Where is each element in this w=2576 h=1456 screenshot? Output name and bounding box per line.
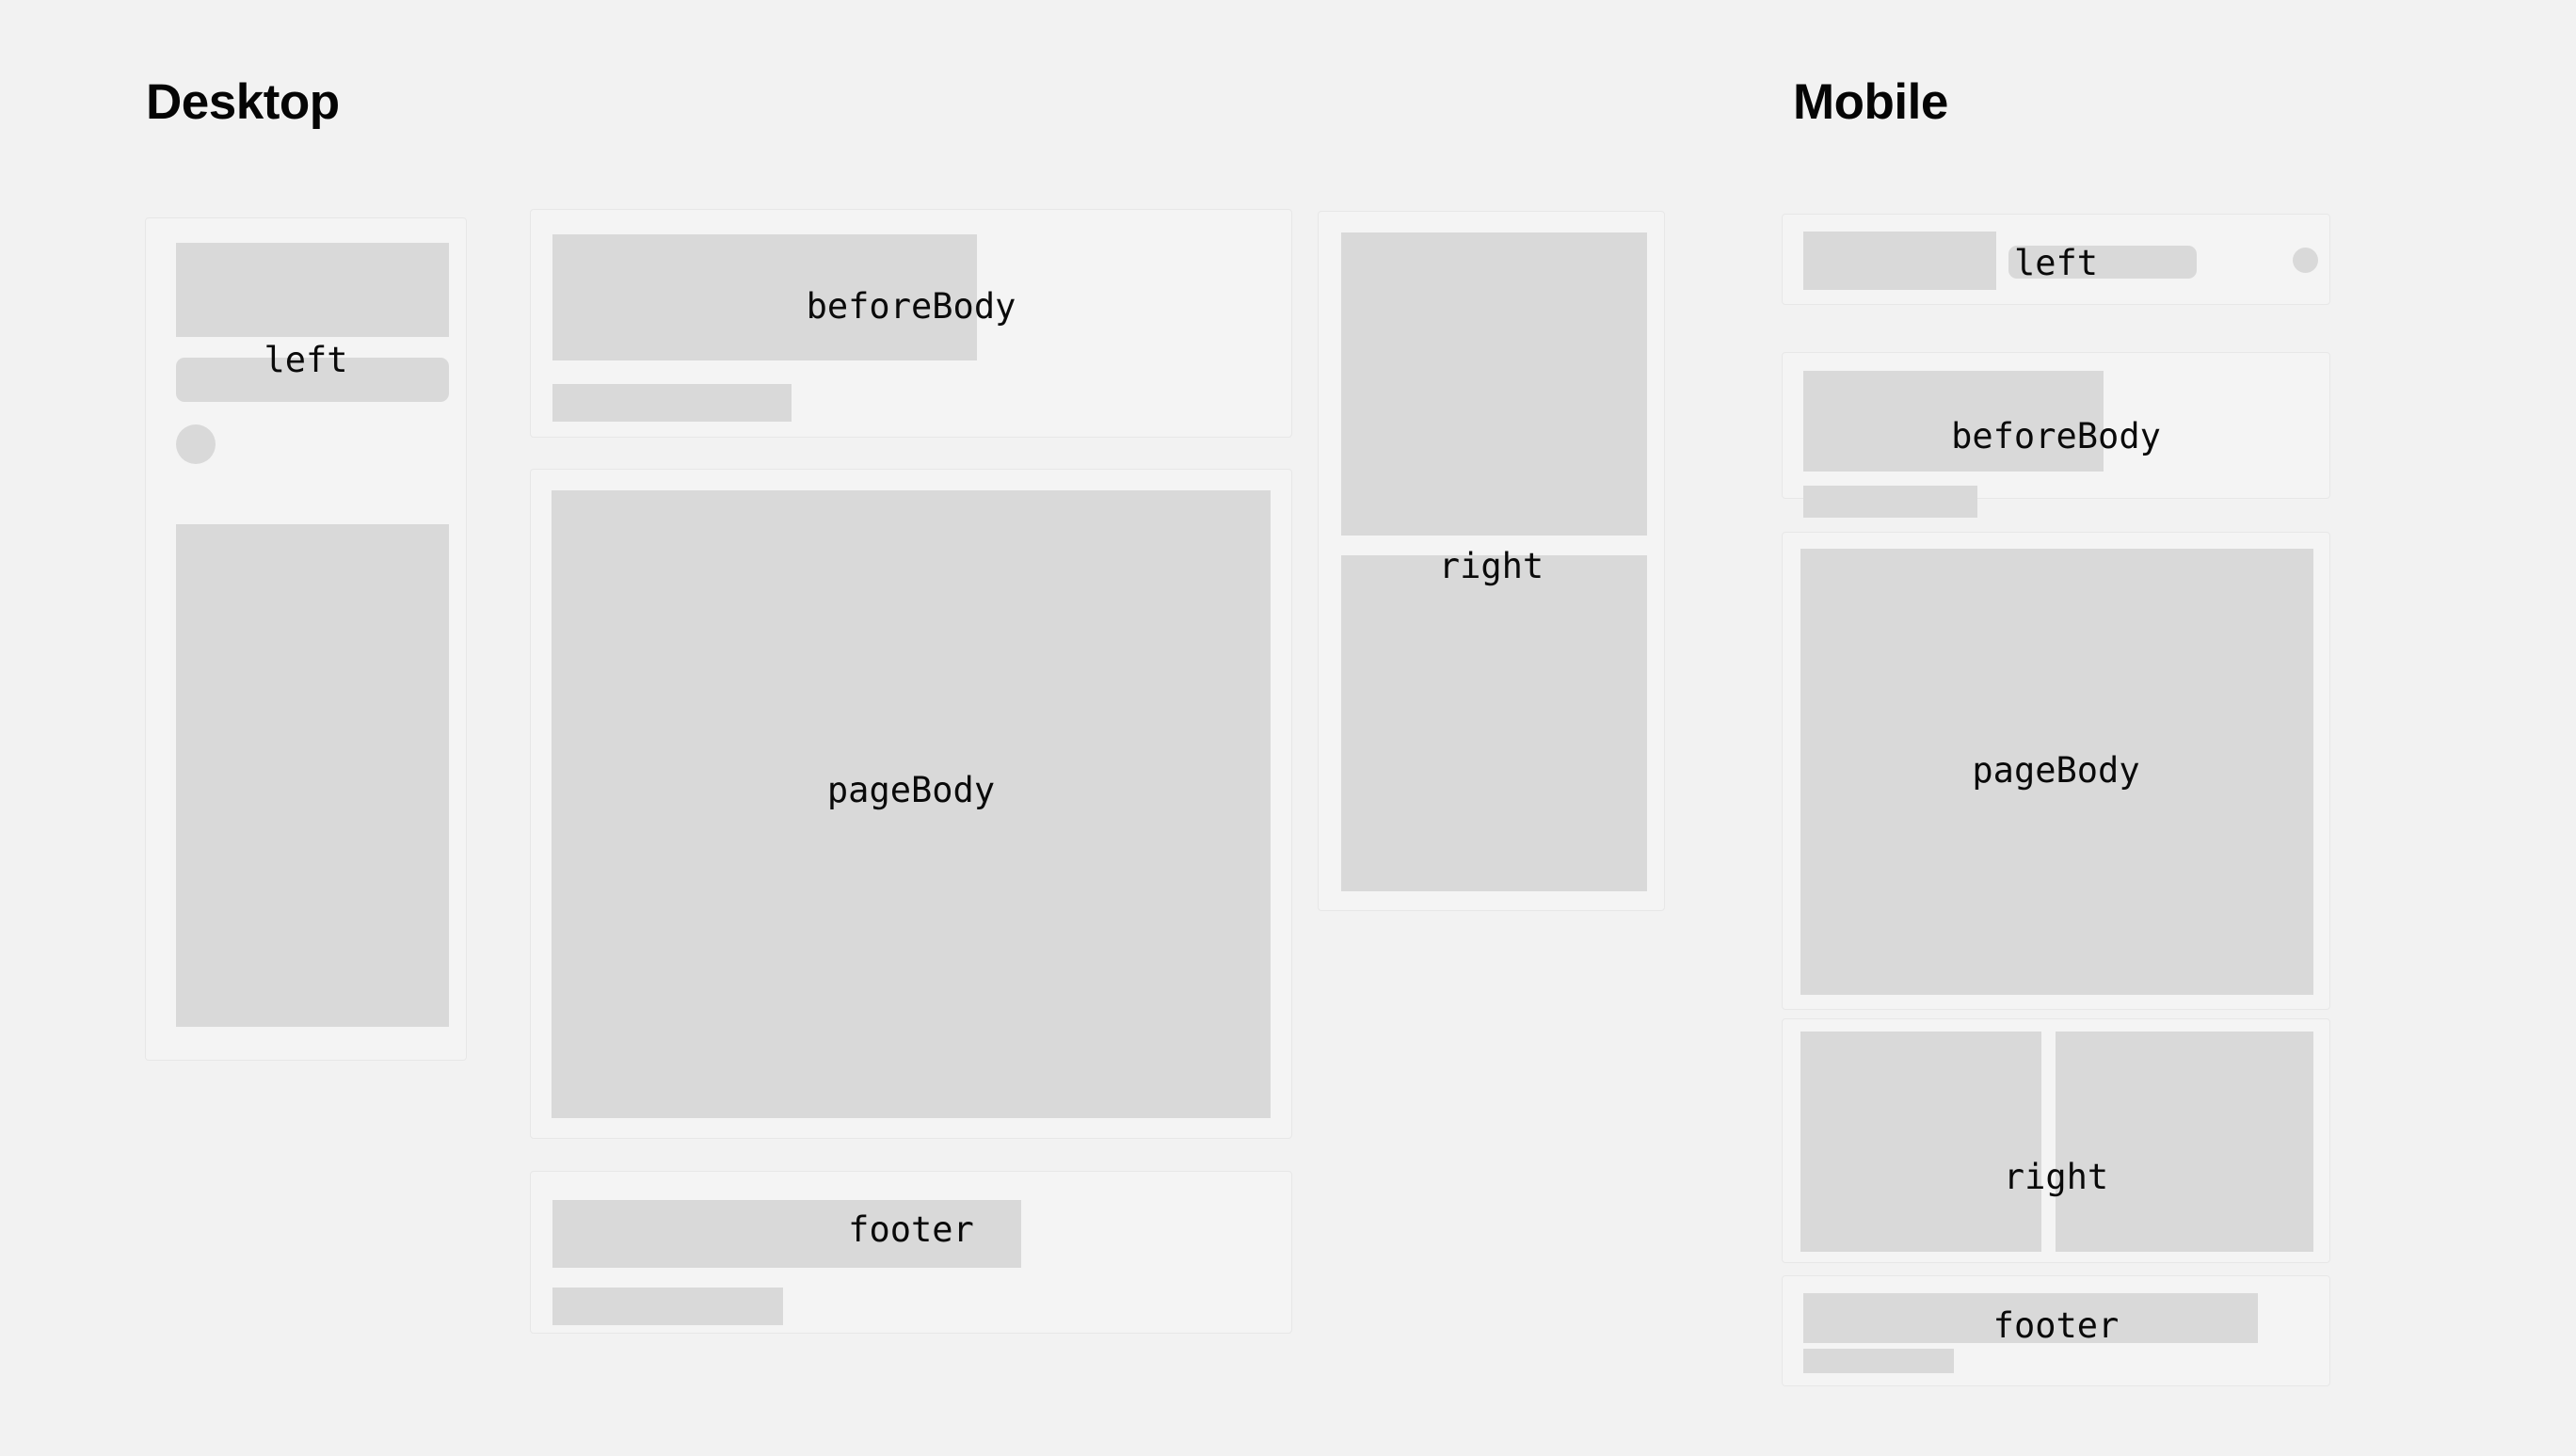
desktop-pagebody-slot-card[interactable] (530, 469, 1292, 1139)
mobile-pagebody-slot-card[interactable] (1782, 532, 2330, 1010)
desktop-right-upper-block (1341, 232, 1647, 536)
desktop-beforebody-slot-card[interactable] (530, 209, 1292, 438)
mobile-beforebody-primary-block (1803, 371, 2104, 472)
mobile-footer-secondary-block (1803, 1349, 1954, 1373)
mobile-footer-slot-card[interactable] (1782, 1275, 2330, 1386)
desktop-footer-primary-block (552, 1200, 1021, 1268)
mobile-left-header-block (1803, 232, 1996, 290)
mobile-right-slot-card[interactable] (1782, 1018, 2330, 1263)
mobile-left-avatar-dot (2293, 248, 2318, 273)
desktop-pagebody-body-block (552, 490, 1271, 1118)
mobile-left-subheader-pill (2008, 246, 2197, 279)
layout-preview-stage: Desktop Mobile (0, 0, 2576, 1456)
desktop-beforebody-secondary-block (552, 384, 792, 422)
desktop-left-header-block (176, 243, 449, 337)
desktop-footer-slot-card[interactable] (530, 1171, 1292, 1334)
desktop-left-slot-card[interactable] (145, 217, 467, 1061)
mobile-pagebody-body-block (1800, 549, 2313, 995)
mobile-beforebody-slot-card[interactable] (1782, 352, 2330, 499)
desktop-right-lower-block (1341, 555, 1647, 891)
desktop-right-slot-card[interactable] (1318, 211, 1665, 911)
desktop-left-avatar-dot (176, 424, 216, 464)
desktop-left-content-block (176, 524, 449, 1027)
mobile-right-right-block (2056, 1032, 2313, 1252)
mobile-footer-primary-block (1803, 1293, 2258, 1343)
mobile-section-title: Mobile (1793, 77, 1948, 127)
mobile-right-left-block (1800, 1032, 2041, 1252)
desktop-section-title: Desktop (146, 77, 340, 127)
desktop-left-subheader-pill (176, 358, 449, 402)
desktop-footer-secondary-block (552, 1288, 783, 1325)
desktop-beforebody-primary-block (552, 234, 977, 360)
mobile-beforebody-secondary-block (1803, 486, 1977, 518)
mobile-left-slot-card[interactable] (1782, 214, 2330, 305)
